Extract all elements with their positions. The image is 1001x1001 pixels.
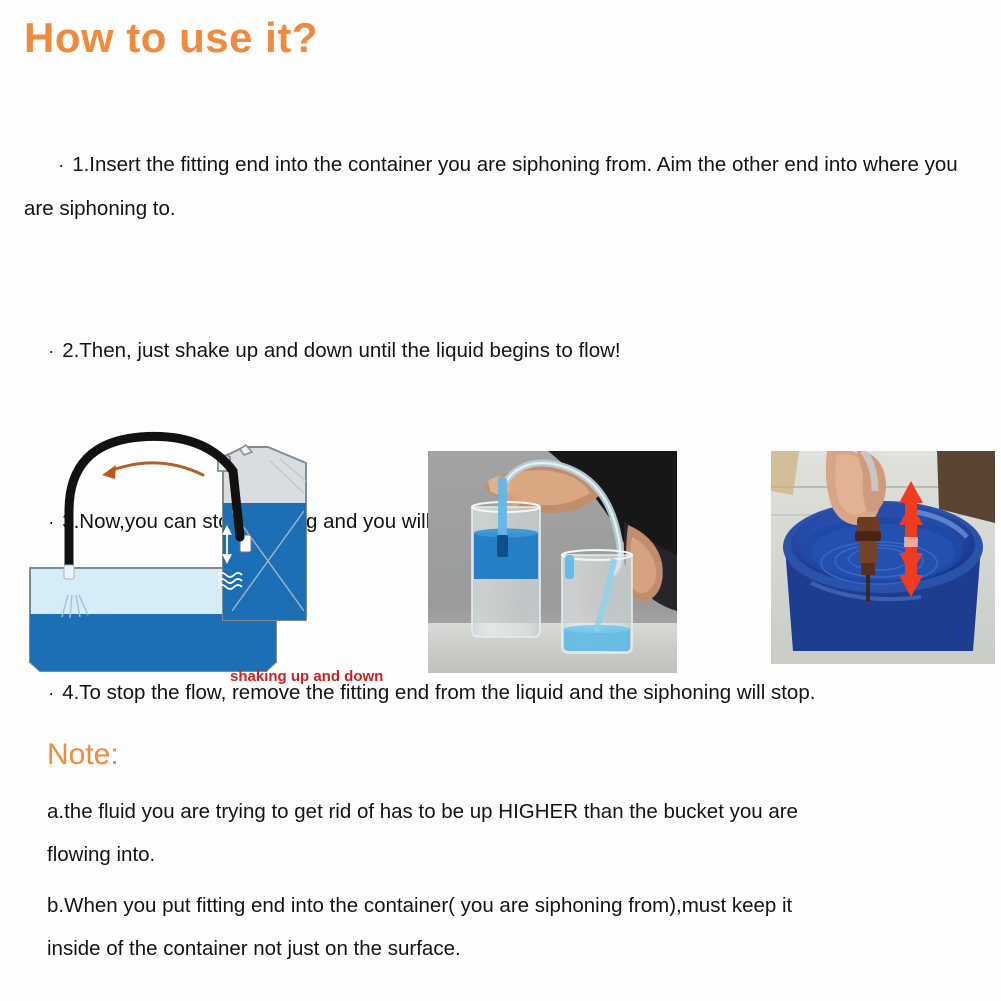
bullet-icon: · [48,330,62,373]
photo-beakers [428,451,677,673]
shaking-caption: shaking up and down [230,668,383,685]
figure-strip: shaking up and down [0,425,1001,705]
bullet-icon: · [58,144,72,187]
note-list: a.the fluid you are trying to get rid of… [47,790,947,970]
photo-bucket [771,451,995,664]
photo-bucket-svg [771,451,995,664]
list-item: ·2.Then, just shake up and down until th… [0,286,1001,416]
note-item: a.the fluid you are trying to get rid of… [47,790,857,876]
instruction-page: How to use it? ·1.Insert the fitting end… [0,0,1001,1001]
siphon-diagram-svg [18,425,408,705]
note-heading: Note: [47,738,119,772]
step-text: 1.Insert the fitting end into the contai… [24,153,963,220]
shake-direction-arrow [102,463,203,479]
step-text: 2.Then, just shake up and down until the… [62,339,620,362]
siphon-diagram: shaking up and down [18,425,408,705]
siphon-hose [69,436,240,575]
photo-beakers-svg [428,451,677,673]
note-item: b.When you put fitting end into the cont… [47,884,847,970]
list-item: ·1.Insert the fitting end into the conta… [10,100,990,273]
page-title: How to use it? [24,14,318,62]
